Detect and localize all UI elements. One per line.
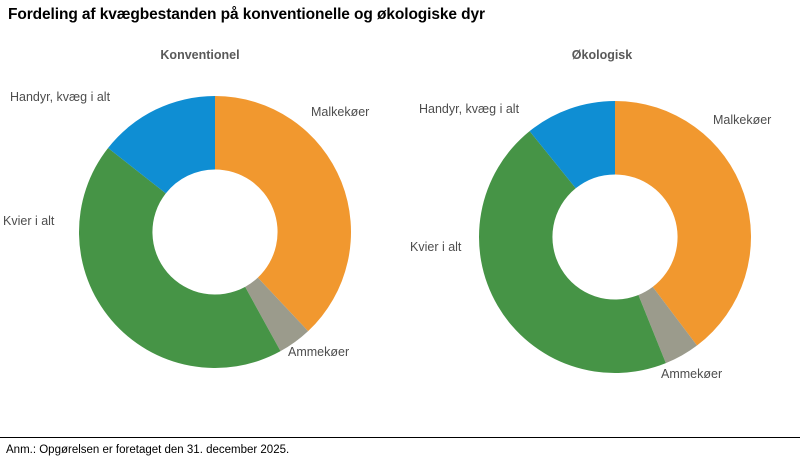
slice-label-ammekoer: Ammekøer bbox=[288, 345, 349, 359]
slice-label-malkekoer: Malkekøer bbox=[713, 113, 771, 127]
footnote-divider bbox=[0, 437, 800, 438]
donut-slices-konventionel bbox=[79, 96, 351, 368]
donut-chart-okologisk bbox=[479, 101, 751, 373]
slice-label-ammekoer: Ammekøer bbox=[661, 367, 722, 381]
donut-slices-okologisk bbox=[479, 101, 751, 373]
slice-label-kvier: Kvier i alt bbox=[410, 240, 461, 254]
footnote: Anm.: Opgørelsen er foretaget den 31. de… bbox=[6, 444, 289, 456]
panel-title-okologisk: Økologisk bbox=[402, 48, 800, 62]
chart-panel-konventionel: Konventionel Handyr, kvæg i alt Malkekøe… bbox=[0, 0, 400, 425]
donut-svg-konventionel bbox=[79, 96, 351, 368]
slice-label-handyr: Handyr, kvæg i alt bbox=[419, 102, 519, 116]
donut-chart-konventionel bbox=[79, 96, 351, 368]
slice-label-malkekoer: Malkekøer bbox=[311, 105, 369, 119]
chart-panel-okologisk: Økologisk Handyr, kvæg i alt Malkekøer K… bbox=[400, 0, 800, 425]
slice-label-kvier: Kvier i alt bbox=[3, 214, 54, 228]
slice-kvier[interactable] bbox=[79, 148, 281, 368]
donut-svg-okologisk bbox=[479, 101, 751, 373]
panel-title-konventionel: Konventionel bbox=[0, 48, 400, 62]
slice-label-handyr: Handyr, kvæg i alt bbox=[10, 90, 110, 104]
